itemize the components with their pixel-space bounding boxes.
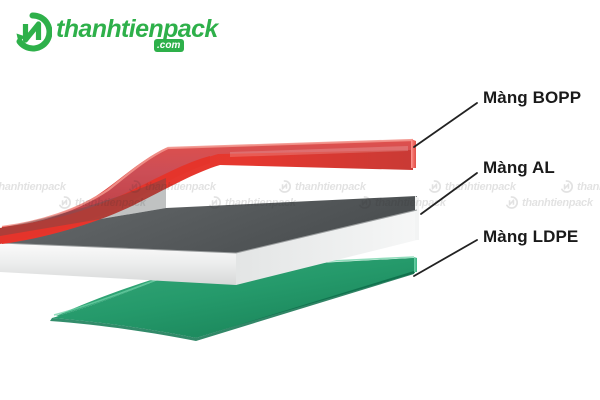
brand-logo[interactable]: thanhtienpack .com xyxy=(12,10,202,56)
layer-label-al: Màng AL xyxy=(483,158,555,178)
diagram-canvas: thanhtienpack thanhtienpack thanhtienpac… xyxy=(0,0,600,400)
leader-lines xyxy=(414,103,477,276)
brand-tld-badge: .com xyxy=(154,39,184,52)
leader-line-ldpe xyxy=(414,240,477,276)
recycle-circle-arrow-icon xyxy=(12,12,52,52)
layer-label-bopp: Màng BOPP xyxy=(483,88,581,108)
leader-line-bopp xyxy=(414,103,477,147)
multilayer-film-illustration xyxy=(0,0,600,400)
brand-name: thanhtienpack xyxy=(56,15,218,44)
leader-line-al xyxy=(421,173,477,214)
layer-label-ldpe: Màng LDPE xyxy=(483,227,578,247)
